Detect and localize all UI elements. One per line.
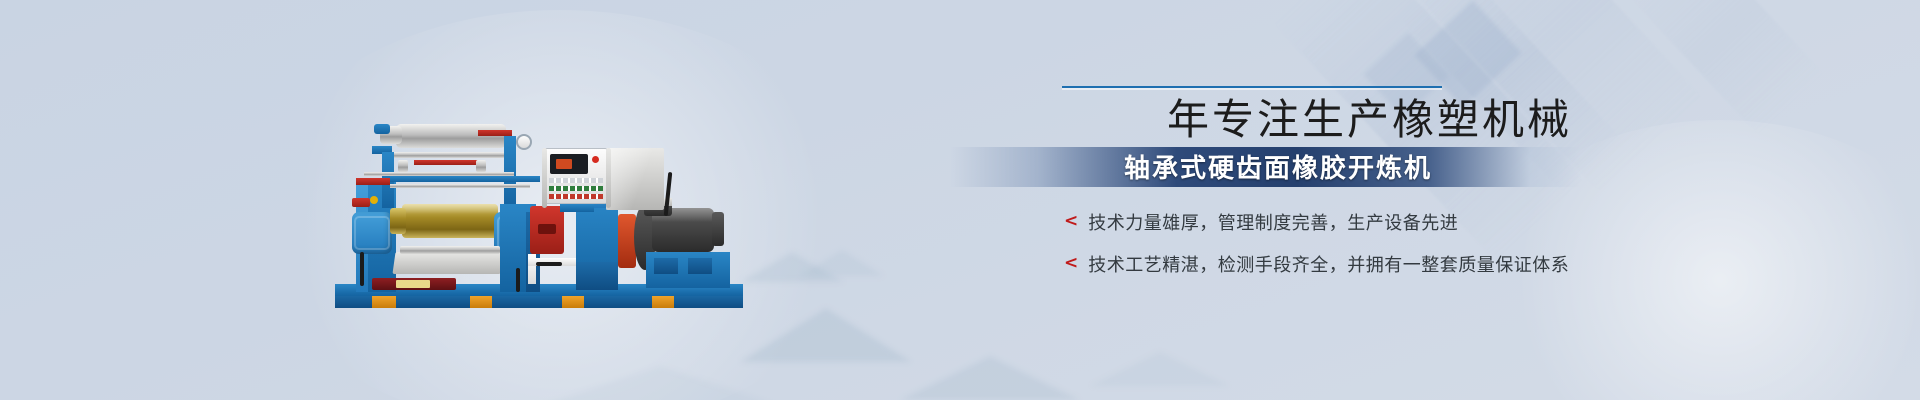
- background-decoration: [0, 0, 1920, 400]
- list-item-label: 技术工艺精湛，检测手段齐全，并拥有一整套质量保证体系: [1088, 251, 1569, 277]
- list-item-label: 技术力量雄厚，管理制度完善，生产设备先进: [1088, 209, 1458, 235]
- list-item: < 技术力量雄厚，管理制度完善，生产设备先进: [1064, 209, 1580, 235]
- background-mountain-shape: [900, 356, 1080, 400]
- chevron-left-icon: <: [1064, 213, 1078, 230]
- background-mountain-shape: [740, 252, 844, 282]
- title-divider-rule: [1062, 86, 1442, 88]
- background-mountain-shape: [1090, 352, 1230, 386]
- list-item: < 技术工艺精湛，检测手段齐全，并拥有一整套质量保证体系: [1064, 251, 1580, 277]
- banner-headline: 年专注生产橡塑机械: [1060, 98, 1580, 143]
- background-mountain-shape: [740, 308, 912, 362]
- product-machine-image: [330, 112, 750, 328]
- background-mountain-shape: [540, 366, 780, 400]
- background-mountain-shape: [800, 250, 884, 276]
- banner-content: 年专注生产橡塑机械 轴承式硬齿面橡胶开炼机 < 技术力量雄厚，管理制度完善，生产…: [1060, 86, 1580, 293]
- background-diagonal-band: [1624, 0, 1826, 138]
- promo-banner: 年专注生产橡塑机械 轴承式硬齿面橡胶开炼机 < 技术力量雄厚，管理制度完善，生产…: [0, 0, 1920, 400]
- subtitle-bar: 轴承式硬齿面橡胶开炼机: [950, 147, 1580, 187]
- chevron-left-icon: <: [1064, 255, 1078, 272]
- feature-bullet-list: < 技术力量雄厚，管理制度完善，生产设备先进 < 技术工艺精湛，检测手段齐全，并…: [1060, 209, 1580, 277]
- subtitle-bar-label: 轴承式硬齿面橡胶开炼机: [1124, 148, 1580, 185]
